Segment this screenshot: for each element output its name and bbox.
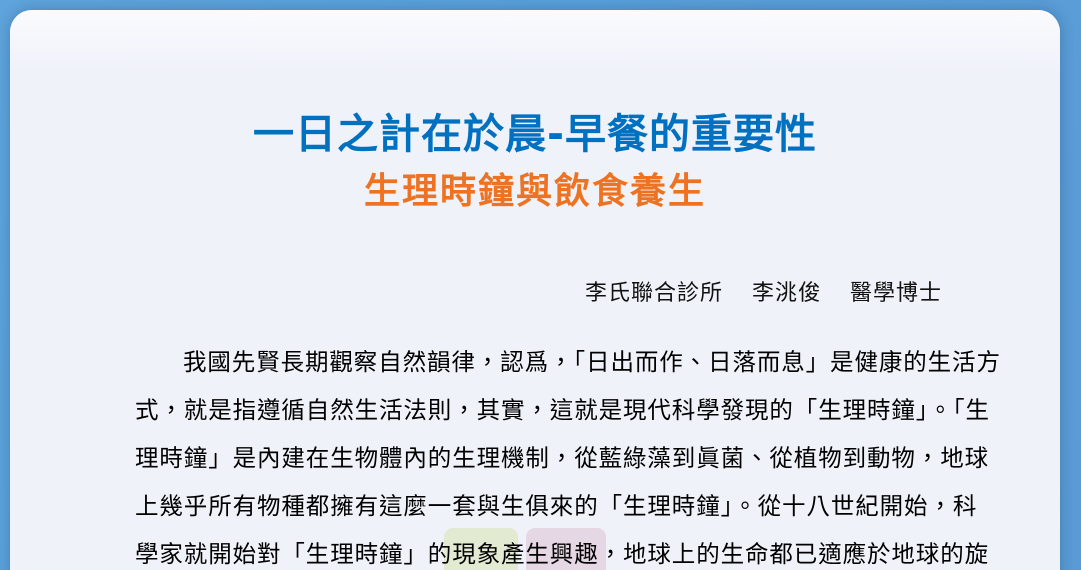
body-paragraph: 我國先賢長期觀察自然韻律，認爲，「日出而作、日落而息」是健康的生活方 式，就是指… xyxy=(135,338,950,570)
byline-clinic: 李氏聯合診所 xyxy=(585,281,723,306)
body-line: 式，就是指遵循自然生活法則，其實，這就是現代科學發現的「生理時鐘」。「生 xyxy=(135,386,950,434)
body-line: 學家就開始對「生理時鐘」的現象產生興趣，地球上的生命都已適應於地球的旋 xyxy=(135,530,950,570)
main-title: 一日之計在於晨-早餐的重要性 xyxy=(10,110,1060,158)
slide-frame: 一日之計在於晨-早餐的重要性 生理時鐘與飲食養生 李氏聯合診所 李洮俊 醫學博士… xyxy=(0,0,1081,570)
sub-title: 生理時鐘與飲食養生 xyxy=(10,171,1060,213)
byline: 李氏聯合診所 李洮俊 醫學博士 xyxy=(585,275,942,307)
title-block: 一日之計在於晨-早餐的重要性 生理時鐘與飲食養生 xyxy=(10,110,1060,214)
byline-credential: 醫學博士 xyxy=(850,281,942,306)
panel-sheen xyxy=(10,10,1060,70)
slide-content-panel: 一日之計在於晨-早餐的重要性 生理時鐘與飲食養生 李氏聯合診所 李洮俊 醫學博士… xyxy=(10,10,1060,570)
body-line: 我國先賢長期觀察自然韻律，認爲，「日出而作、日落而息」是健康的生活方 xyxy=(135,338,950,386)
body-line: 上幾乎所有物種都擁有這麼一套與生俱來的「生理時鐘」。從十八世紀開始，科 xyxy=(135,482,950,530)
byline-author: 李洮俊 xyxy=(752,281,821,306)
body-line: 理時鐘」是內建在生物體內的生理機制，從藍綠藻到眞菌、從植物到動物，地球 xyxy=(135,434,950,482)
